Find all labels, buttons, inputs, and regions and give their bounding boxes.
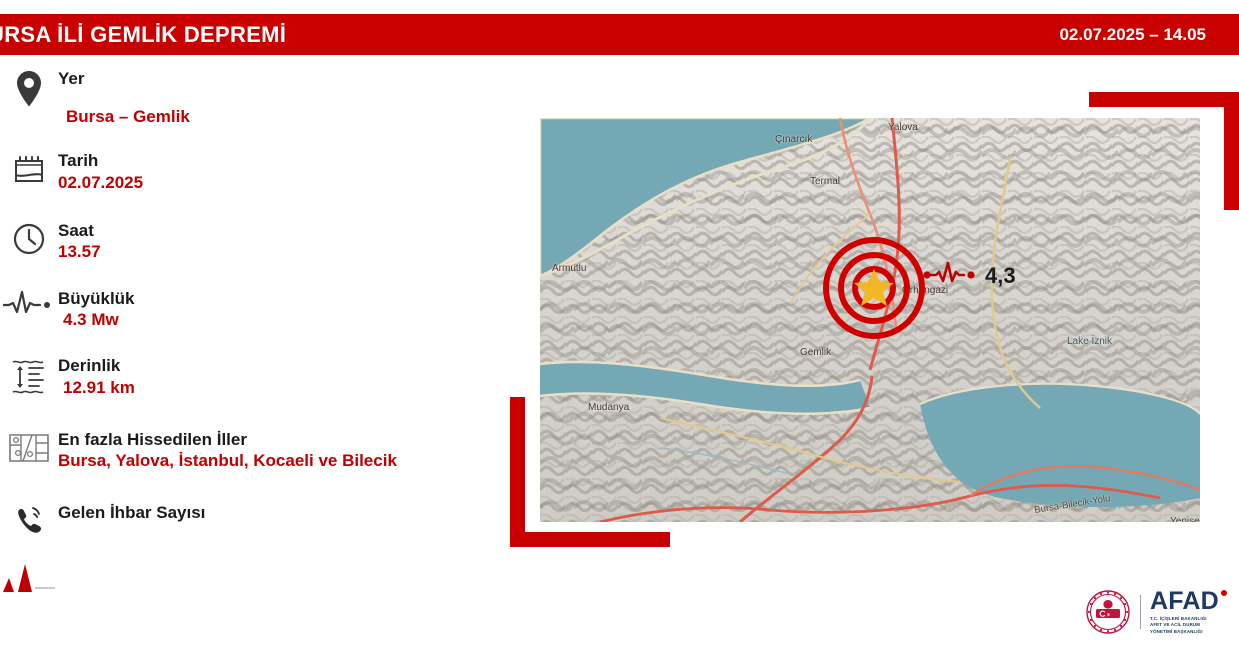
magnitude-value: 4,3 xyxy=(985,265,1016,287)
info-row-bottom-cutoff xyxy=(0,560,520,592)
afad-subtitle-line: YÖNETİMİ BAŞKANLIĞI xyxy=(1150,629,1219,635)
afad-wordmark: AFAD T.C. İÇİŞLERİ BAKANLIĞI AFET VE ACİ… xyxy=(1150,589,1219,635)
info-row-saat: Saat 13.57 xyxy=(0,220,520,263)
info-label-derinlik: Derinlik xyxy=(58,355,135,376)
red-peaks-icon xyxy=(0,560,58,592)
map-label: Armutlu xyxy=(552,263,586,274)
info-text-buyukluk: Büyüklük 4.3 Mw xyxy=(58,288,135,331)
info-text-tarih: Tarih 02.07.2025 xyxy=(58,150,143,193)
info-row-buyukluk: Büyüklük 4.3 Mw xyxy=(0,288,520,331)
map-label: Yalova xyxy=(888,122,918,133)
info-value-tarih: 02.07.2025 xyxy=(58,172,143,194)
info-value-derinlik: 12.91 km xyxy=(58,377,135,399)
info-row-tarih: Tarih 02.07.2025 xyxy=(0,150,520,193)
tc-icisleri-bakanligi-emblem xyxy=(1085,589,1131,635)
earthquake-details-panel: Yer Bursa – Gemlik Tarih 02.07.2025 xyxy=(0,62,520,592)
info-row-yer: Yer Bursa – Gemlik xyxy=(0,68,520,128)
map-label: Yenişehir xyxy=(1170,516,1200,522)
map-label: Gemlik xyxy=(800,347,831,358)
logo-divider xyxy=(1140,595,1141,629)
afad-subtitle: T.C. İÇİŞLERİ BAKANLIĞI AFET VE ACİL DUR… xyxy=(1150,616,1219,635)
header-datetime: 02.07.2025 – 14.05 xyxy=(1059,25,1206,45)
info-label-tarih: Tarih xyxy=(58,150,143,171)
map-label: Çınarcık xyxy=(775,134,812,145)
earthquake-map[interactable]: Yalova Çınarcık Termal Armutlu Orhangazi… xyxy=(540,118,1200,522)
magnitude-badge: 4,3 xyxy=(923,260,1016,291)
seismograph-wave-icon xyxy=(923,260,981,291)
page-title: URSA İLİ GEMLİK DEPREMİ xyxy=(0,22,286,48)
info-value-yer: Bursa – Gemlik xyxy=(58,106,190,128)
info-row-iller: En fazla Hissedilen İller Bursa, Yalova,… xyxy=(0,429,520,472)
info-label-ihbar: Gelen İhbar Sayısı xyxy=(58,502,205,523)
seismograph-icon xyxy=(0,288,58,320)
calendar-icon xyxy=(0,150,58,186)
info-row-derinlik: Derinlik 12.91 km xyxy=(0,355,520,398)
info-text-derinlik: Derinlik 12.91 km xyxy=(58,355,135,398)
info-value-saat: 13.57 xyxy=(58,241,101,263)
info-text-iller: En fazla Hissedilen İller Bursa, Yalova,… xyxy=(58,429,397,472)
phone-ring-icon xyxy=(0,502,58,538)
info-row-ihbar: Gelen İhbar Sayısı xyxy=(0,502,520,538)
earthquake-info-slide: URSA İLİ GEMLİK DEPREMİ 02.07.2025 – 14.… xyxy=(0,0,1239,671)
map-label: Lake İznik xyxy=(1067,336,1112,347)
map-corner-accent-bottom-left xyxy=(510,397,670,547)
location-pin-icon xyxy=(0,68,58,108)
info-value-iller: Bursa, Yalova, İstanbul, Kocaeli ve Bile… xyxy=(58,450,397,472)
epicenter-rings-star-icon xyxy=(822,236,926,340)
folded-map-icon xyxy=(0,429,58,465)
map-corner-accent-top-right xyxy=(1089,92,1239,210)
clock-icon xyxy=(0,220,58,256)
map-label: Termal xyxy=(810,176,840,187)
info-label-yer: Yer xyxy=(58,68,190,89)
info-text-saat: Saat 13.57 xyxy=(58,220,101,263)
info-text-ihbar: Gelen İhbar Sayısı xyxy=(58,502,205,523)
afad-word: AFAD xyxy=(1150,589,1219,614)
info-text-yer: Yer Bursa – Gemlik xyxy=(58,68,190,128)
depth-ruler-icon xyxy=(0,355,58,397)
info-label-saat: Saat xyxy=(58,220,101,241)
info-value-buyukluk: 4.3 Mw xyxy=(58,309,135,331)
afad-dot-icon xyxy=(1221,590,1227,596)
header-bar: URSA İLİ GEMLİK DEPREMİ 02.07.2025 – 14.… xyxy=(0,14,1239,55)
afad-logo: AFAD T.C. İÇİŞLERİ BAKANLIĞI AFET VE ACİ… xyxy=(1085,589,1219,635)
info-label-iller: En fazla Hissedilen İller xyxy=(58,429,397,450)
info-label-buyukluk: Büyüklük xyxy=(58,288,135,309)
